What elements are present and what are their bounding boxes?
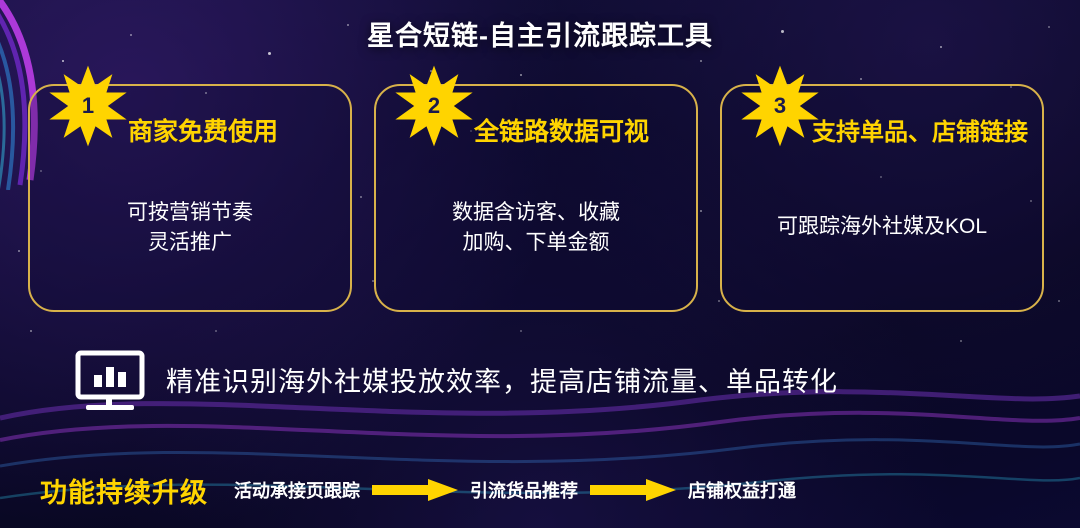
page-title: 星合短链-自主引流跟踪工具 (0, 14, 1080, 53)
arrow-right-icon (590, 479, 676, 501)
footer-step-1: 活动承接页跟踪 (234, 477, 360, 503)
feature-card-2: 2 全链路数据可视 数据含访客、收藏 加购、下单金额 (374, 84, 698, 312)
card-1-heading: 商家免费使用 (128, 112, 278, 148)
card-1-body-line1: 可按营销节奏 (127, 201, 253, 224)
summary-banner-text: 精准识别海外社媒投放效率，提高店铺流量、单品转化 (166, 360, 838, 399)
footer-step-3: 店铺权益打通 (688, 477, 796, 503)
card-1-number: 1 (46, 64, 130, 148)
card-2-body: 数据含访客、收藏 加购、下单金额 (376, 198, 696, 259)
card-1-body-line2: 灵活推广 (148, 231, 232, 254)
card-2-body-line1: 数据含访客、收藏 (452, 201, 620, 224)
card-2-body-line2: 加购、下单金额 (463, 231, 610, 254)
feature-card-3: 3 支持单品、店铺链接 可跟踪海外社媒及KOL (720, 84, 1044, 312)
card-3-body-line1: 可跟踪海外社媒及KOL (777, 215, 987, 238)
card-2-heading: 全链路数据可视 (474, 112, 649, 148)
summary-banner: 精准识别海外社媒投放效率，提高店铺流量、单品转化 (0, 336, 1080, 422)
slide-canvas: 星合短链-自主引流跟踪工具 1 商家免费使用 可按营销节奏 灵活推广 2 全链路… (0, 0, 1080, 528)
feature-cards: 1 商家免费使用 可按营销节奏 灵活推广 2 全链路数据可视 数据含访客、收藏 … (28, 84, 1052, 312)
card-3-body: 可跟踪海外社媒及KOL (722, 212, 1042, 242)
card-3-heading: 支持单品、店铺链接 (812, 112, 1028, 147)
card-1-body: 可按营销节奏 灵活推广 (30, 198, 350, 259)
footer-step-2: 引流货品推荐 (470, 477, 578, 503)
feature-card-1: 1 商家免费使用 可按营销节奏 灵活推广 (28, 84, 352, 312)
chart-presentation-icon (72, 347, 148, 411)
footer-roadmap: 功能持续升级 活动承接页跟踪 引流货品推荐 店铺权益打通 (0, 468, 1080, 512)
card-3-number: 3 (738, 64, 822, 148)
arrow-right-icon (372, 479, 458, 501)
footer-title: 功能持续升级 (40, 471, 208, 510)
card-2-number: 2 (392, 64, 476, 148)
